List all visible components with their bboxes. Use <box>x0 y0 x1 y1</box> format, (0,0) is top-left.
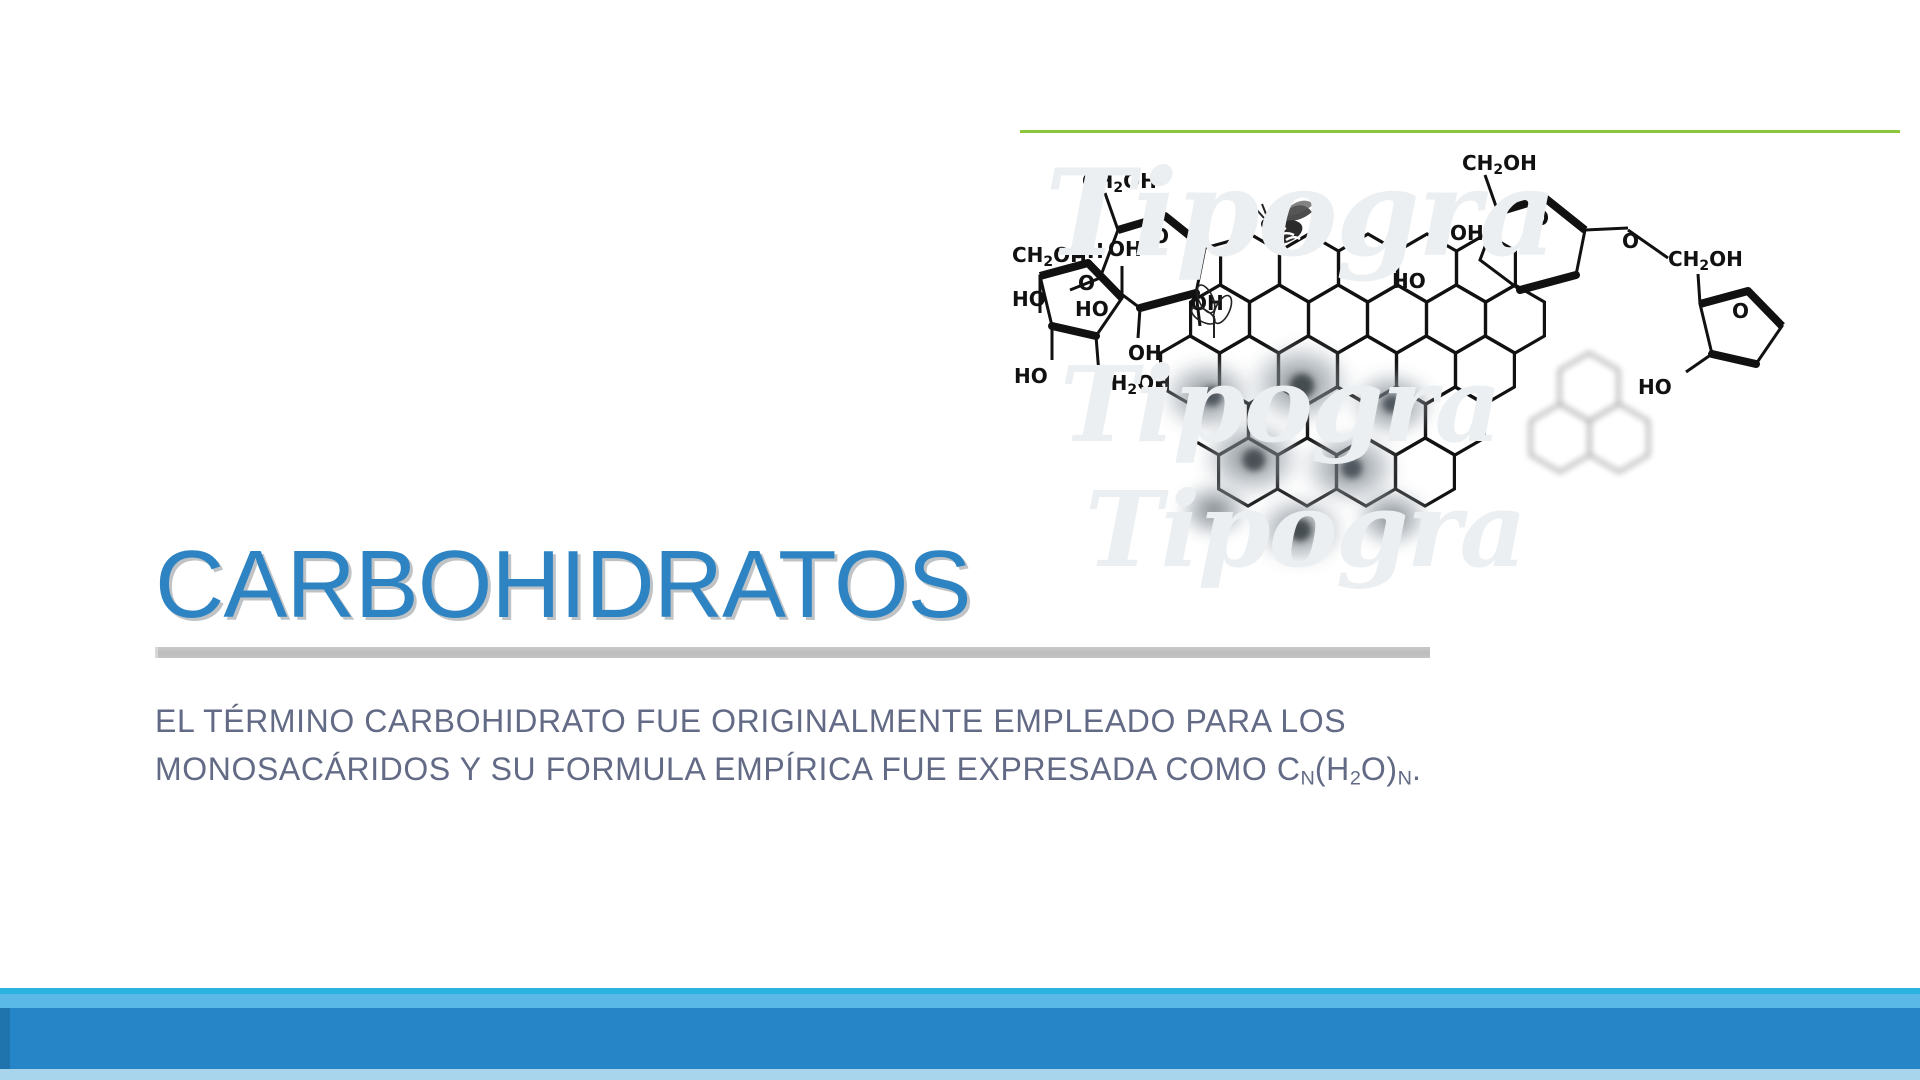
slide-subtitle: EL TÉRMINO CARBOHIDRATO FUE ORIGINALMENT… <box>155 697 1455 802</box>
footer-band-main-blue <box>0 1008 1920 1069</box>
svg-text:O: O <box>1622 229 1639 253</box>
svg-text:CH2OH: CH2OH <box>1668 247 1743 274</box>
formula-subscript-n1: n <box>1301 767 1315 789</box>
watermark-text-1: Tipogra <box>1045 143 1555 284</box>
subtitle-line-3-pre: EXPRESADA COMO C <box>957 751 1301 787</box>
honeycomb-right-fade <box>1531 353 1649 472</box>
title-block: CARBOHIDRATOS <box>155 535 1445 658</box>
page-title: CARBOHIDRATOS <box>155 535 1445 635</box>
svg-text:HO: HO <box>1638 375 1672 399</box>
presentation-slide: Tipogra Tipogra Tipogra <box>0 0 1920 1080</box>
label-ho: HO <box>1014 364 1048 388</box>
watermark-text-2: Tipogra <box>1060 343 1500 466</box>
title-divider-rule <box>155 647 1430 658</box>
footer-band-light-blue <box>0 994 1920 1008</box>
subtitle-period: . <box>1412 751 1422 787</box>
monosaccharide-furanose-right <box>1686 274 1782 372</box>
glycosidic-bond: O <box>1622 229 1668 258</box>
furanose-right-labels: CH2OH O HO <box>1638 247 1749 399</box>
footer-band-bottom-blue <box>0 1069 1920 1080</box>
footer-bands <box>0 988 1920 1080</box>
footer-band-left-edge <box>0 1008 10 1069</box>
subtitle-line-1: EL TÉRMINO CARBOHIDRATO FUE ORIGINALMENT… <box>155 703 1176 739</box>
svg-text:HO: HO <box>1012 287 1046 311</box>
subtitle-line-3-mid2: O) <box>1361 751 1398 787</box>
formula-subscript-n2: n <box>1398 767 1412 789</box>
subtitle-line-3-mid: (H <box>1315 751 1350 787</box>
label-ho: HO <box>1075 297 1109 321</box>
svg-text:O: O <box>1732 299 1749 323</box>
formula-subscript-2: 2 <box>1350 767 1361 789</box>
green-accent-rule <box>1020 130 1900 133</box>
